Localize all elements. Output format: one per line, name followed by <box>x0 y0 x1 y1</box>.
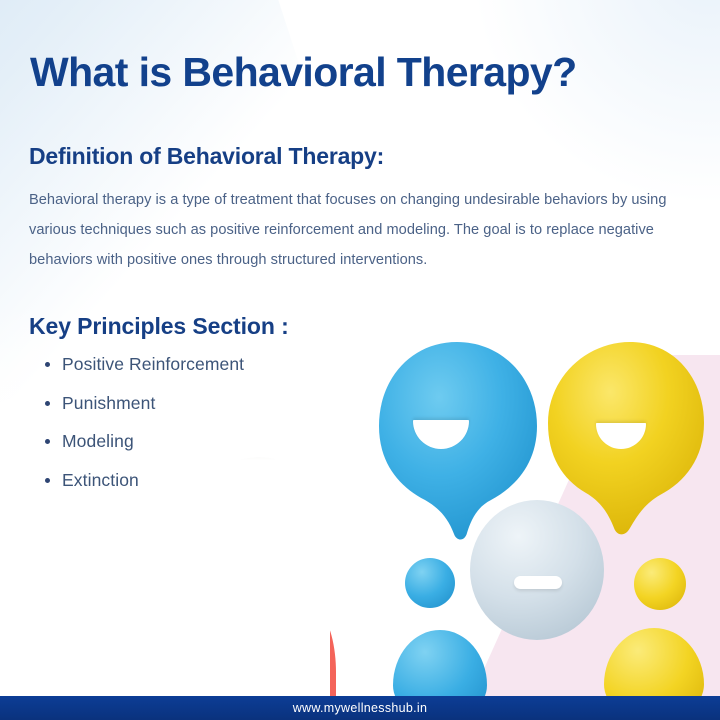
small-yellow-sphere <box>634 558 686 610</box>
small-blue-sphere <box>405 558 455 608</box>
page-title: What is Behavioral Therapy? <box>30 50 680 96</box>
list-item: Positive Reinforcement <box>62 356 244 374</box>
definition-paragraph: Behavioral therapy is a type of treatmen… <box>29 185 695 276</box>
yellow-speech-bubble <box>548 338 698 508</box>
website-url[interactable]: www.mywellnesshub.in <box>293 701 428 715</box>
gray-circle-bubble <box>470 500 604 640</box>
gray-circle-bubble-shape <box>470 500 604 640</box>
list-item: Modeling <box>62 433 244 451</box>
yellow-speech-bubble-shape <box>542 334 710 544</box>
girl-figure <box>28 491 211 696</box>
list-item: Punishment <box>62 395 244 413</box>
background-pink-wedge <box>470 355 720 700</box>
blue-bubble-mouth-mark <box>413 420 469 449</box>
definition-heading: Definition of Behavioral Therapy: <box>29 143 384 170</box>
key-principles-list: Positive Reinforcement Punishment Modeli… <box>36 356 244 510</box>
yellow-bubble-mouth-mark <box>596 423 646 449</box>
list-item: Extinction <box>62 472 244 490</box>
key-principles-heading: Key Principles Section : <box>29 313 289 340</box>
footer-bar: www.mywellnesshub.in <box>0 696 720 720</box>
infographic-poster: What is Behavioral Therapy? Definition o… <box>0 0 720 720</box>
gray-bubble-mouth-mark <box>514 576 562 589</box>
